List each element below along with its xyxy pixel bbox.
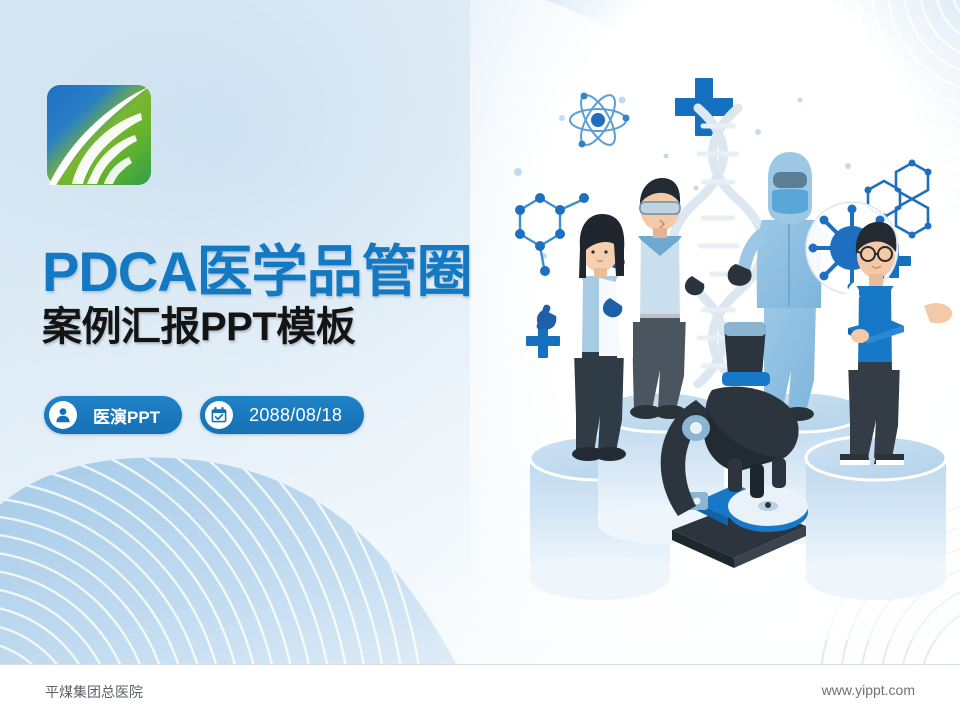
calendar-check-icon xyxy=(205,401,233,429)
title-block: PDCA医学品管圈 案例汇报PPT模板 xyxy=(42,243,562,348)
presentation-slide: PDCA医学品管圈 案例汇报PPT模板 医演PPT xyxy=(0,0,960,720)
author-badge[interactable]: 医演PPT xyxy=(44,396,182,434)
molecule-icon xyxy=(515,193,589,276)
date-badge[interactable]: 2088/08/18 xyxy=(200,396,364,434)
page-title: PDCA医学品管圈 xyxy=(42,243,562,300)
meta-row: 医演PPT 2088/08/18 xyxy=(44,396,364,434)
date-label: 2088/08/18 xyxy=(249,405,342,426)
page-subtitle: 案例汇报PPT模板 xyxy=(42,306,562,348)
footer-website[interactable]: www.yippt.com xyxy=(822,682,915,698)
person-icon xyxy=(49,401,77,429)
medical-science-team-illustration xyxy=(500,60,960,620)
author-label: 医演PPT xyxy=(93,403,160,428)
plus-mark-small-left xyxy=(526,324,560,358)
company-logo xyxy=(45,83,155,188)
footer-divider xyxy=(0,664,960,665)
slide-footer: 平煤集团总医院 www.yippt.com xyxy=(0,664,960,720)
footer-organization: 平煤集团总医院 xyxy=(45,682,143,702)
